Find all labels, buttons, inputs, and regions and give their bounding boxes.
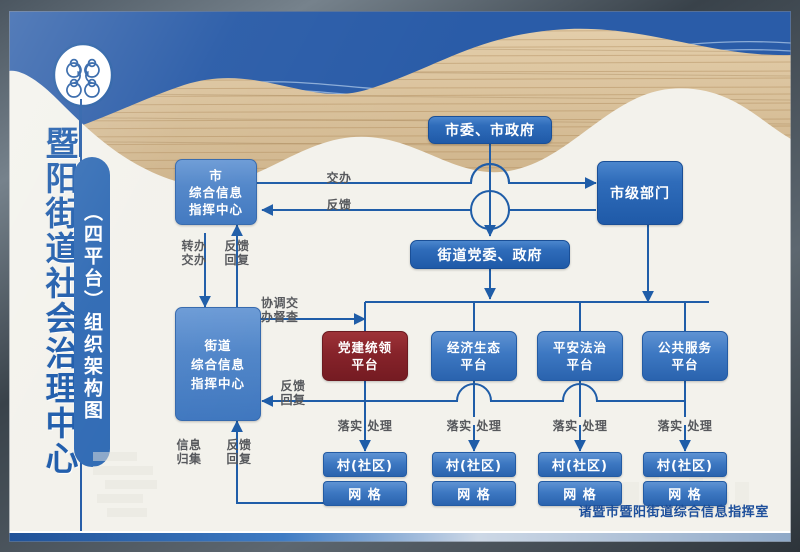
platform-party-building[interactable]: 党建统领 平台 — [322, 331, 408, 381]
node-city-info-center-line2: 综合信息 — [189, 184, 243, 201]
node-city-info-center-line3: 指挥中心 — [189, 201, 243, 218]
platform-safety-line2: 平台 — [566, 356, 593, 373]
edge-label-feedback: 反馈 — [309, 198, 369, 212]
node-city-info-center-line1: 市 — [209, 167, 223, 184]
node-city-government[interactable]: 市委、市政府 — [428, 116, 552, 144]
village-box-2[interactable]: 村(社区) — [432, 452, 516, 477]
edge-label-implement-1: 落实 处理 — [315, 419, 415, 433]
bottom-blue-band — [9, 533, 791, 542]
platform-party-building-line1: 党建统领 — [338, 339, 392, 356]
village-box-4[interactable]: 村(社区) — [643, 452, 727, 477]
edge-label-info-gather: 信息 归集 — [167, 438, 211, 466]
edge-label-feedback-reply-mid: 反馈 回复 — [271, 379, 315, 407]
platform-public-service-line2: 平台 — [671, 356, 698, 373]
poster-board: 暨阳街道社会治理中心 （四平台）组织架构图 — [0, 0, 800, 552]
platform-economy-ecology-line1: 经济生态 — [447, 339, 501, 356]
platform-economy-ecology[interactable]: 经济生态 平台 — [431, 331, 517, 381]
node-city-info-center[interactable]: 市 综合信息 指挥中心 — [175, 159, 257, 225]
board-surface: 暨阳街道社会治理中心 （四平台）组织架构图 — [9, 11, 791, 542]
node-street-party-gov[interactable]: 街道党委、政府 — [410, 240, 570, 269]
platform-safety-rule-of-law[interactable]: 平安法治 平台 — [537, 331, 623, 381]
node-street-info-center-line2: 综合信息 — [191, 355, 245, 374]
village-box-1[interactable]: 村(社区) — [323, 452, 407, 477]
village-box-3[interactable]: 村(社区) — [538, 452, 622, 477]
edge-label-coordinate-supervise: 协调交 办督查 — [261, 296, 317, 324]
node-street-info-center-line3: 指挥中心 — [191, 374, 245, 393]
node-street-info-center[interactable]: 街道 综合信息 指挥中心 — [175, 307, 261, 421]
grid-box-2[interactable]: 网 格 — [432, 481, 516, 506]
platform-public-service[interactable]: 公共服务 平台 — [642, 331, 728, 381]
edge-label-assign: 交办 — [309, 171, 369, 185]
credit-text: 诸暨市暨阳街道综合信息指挥室 — [579, 501, 769, 520]
node-street-info-center-line1: 街道 — [204, 336, 231, 355]
edge-label-feedback-reply-bottom: 反馈 回复 — [217, 438, 261, 466]
edge-label-implement-3: 落实 处理 — [530, 419, 630, 433]
platform-public-service-line1: 公共服务 — [658, 339, 712, 356]
grid-box-1[interactable]: 网 格 — [323, 481, 407, 506]
edge-label-implement-2: 落实 处理 — [424, 419, 524, 433]
platform-safety-line1: 平安法治 — [553, 339, 607, 356]
edge-label-feedback-reply-top: 反馈 回复 — [217, 239, 257, 267]
platform-economy-ecology-line2: 平台 — [460, 356, 487, 373]
edge-label-implement-4: 落实 处理 — [635, 419, 735, 433]
platform-party-building-line2: 平台 — [351, 356, 378, 373]
node-city-departments[interactable]: 市级部门 — [597, 161, 683, 225]
edge-label-transfer-assign: 转办 交办 — [174, 239, 214, 267]
